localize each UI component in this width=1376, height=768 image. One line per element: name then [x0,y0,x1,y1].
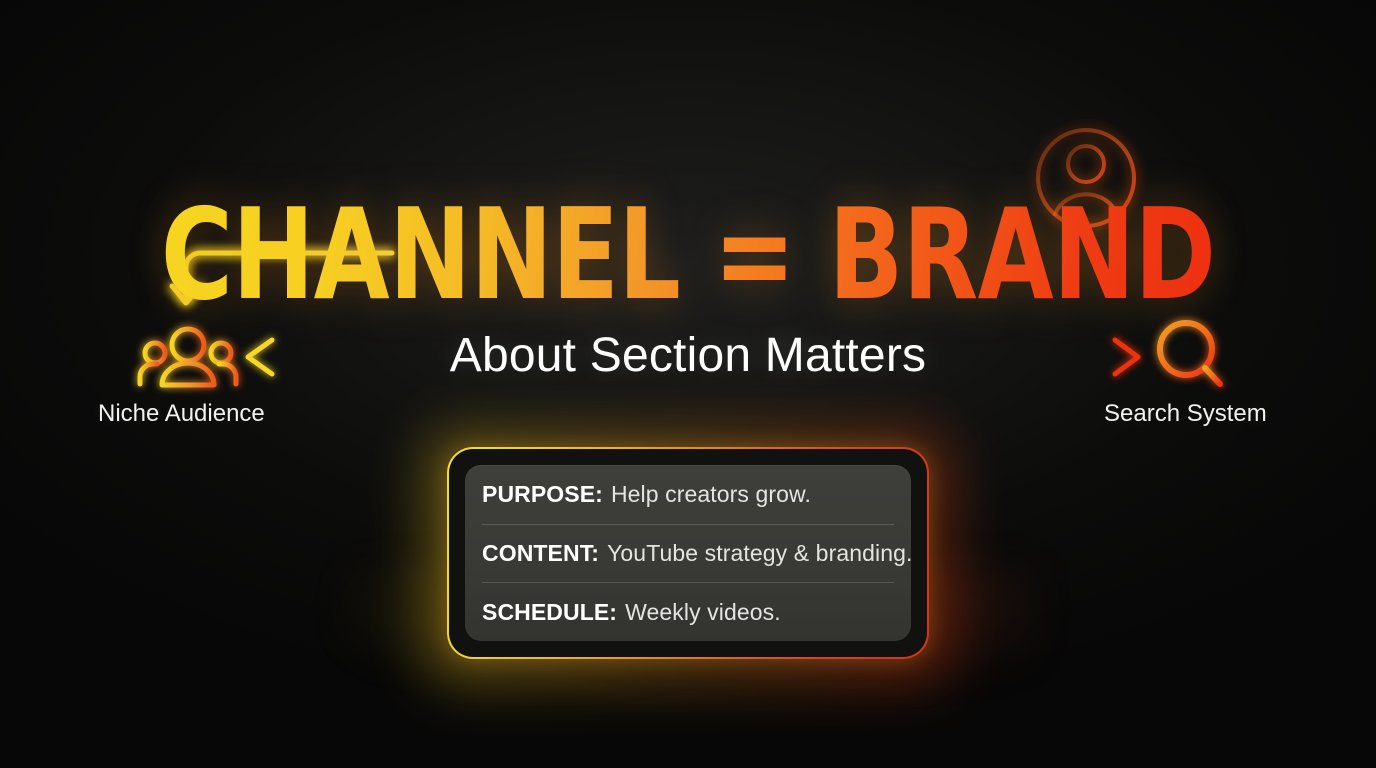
card-row-key: CONTENT: [482,538,599,568]
about-section-card: PURPOSE: Help creators grow. CONTENT: Yo… [447,447,929,659]
card-gradient-border: PURPOSE: Help creators grow. CONTENT: Yo… [447,447,929,659]
right-caption: Search System [1104,398,1267,430]
card-row: PURPOSE: Help creators grow. [482,465,894,524]
card-row-value: Weekly videos. [625,597,781,627]
page-subtitle: About Section Matters [0,327,1376,385]
card-inner-panel: PURPOSE: Help creators grow. CONTENT: Yo… [465,465,911,641]
card-row-value: Help creators grow. [611,479,811,509]
left-caption: Niche Audience [98,398,265,430]
poster-canvas: CHANNEL = BRAND About Section Matters Ni… [0,0,1376,768]
card-row-key: SCHEDULE: [482,597,617,627]
card-row: CONTENT: YouTube strategy & branding. [482,524,894,583]
card-row: SCHEDULE: Weekly videos. [482,582,894,641]
card-row-key: PURPOSE: [482,479,603,509]
page-title: CHANNEL = BRAND [151,196,1224,314]
card-row-value: YouTube strategy & branding. [607,538,912,568]
card-frame: PURPOSE: Help creators grow. CONTENT: Yo… [449,449,927,657]
